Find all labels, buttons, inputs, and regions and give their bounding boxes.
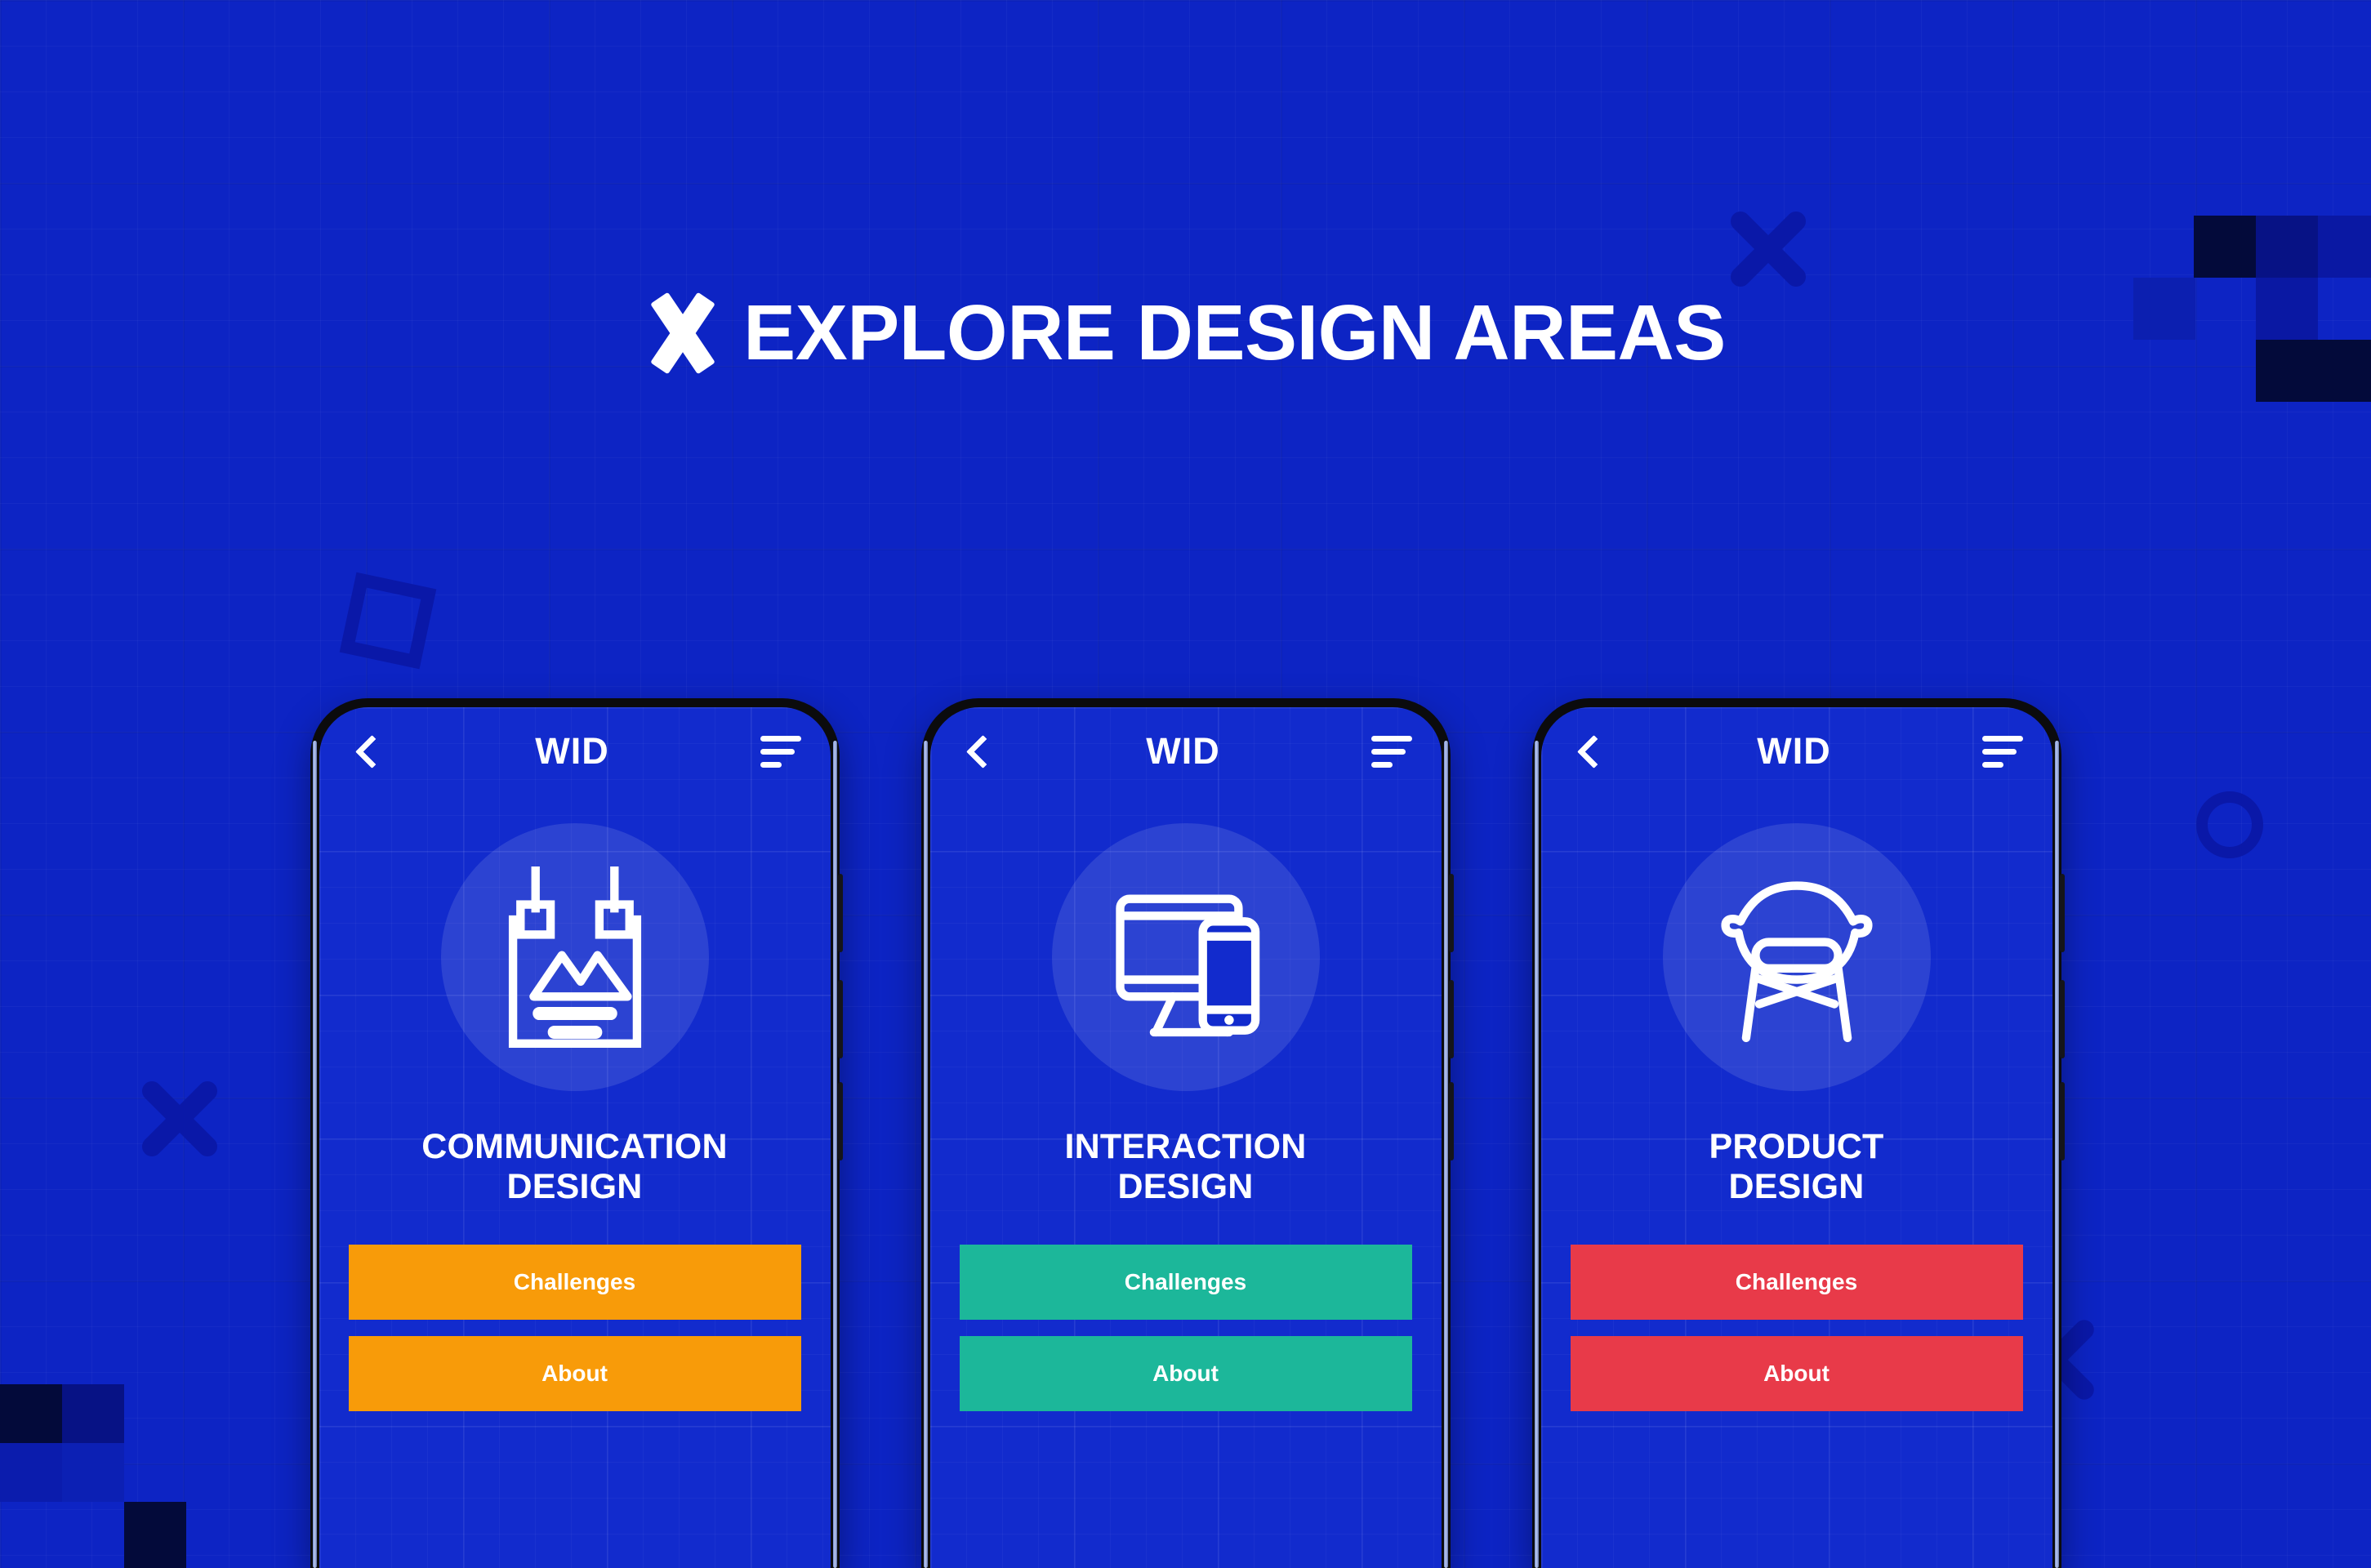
phone-screen: WID PRODUCT DESIGN Challenges About xyxy=(1541,707,2052,1568)
challenges-button[interactable]: Challenges xyxy=(349,1245,801,1320)
about-button[interactable]: About xyxy=(1571,1336,2023,1411)
hamburger-menu-icon[interactable] xyxy=(760,733,803,770)
monitor-and-phone-icon xyxy=(1052,823,1320,1091)
hamburger-menu-icon[interactable] xyxy=(1982,733,2025,770)
phone-mockup-interaction: WID INTERACTION DESIGN Challenges xyxy=(921,698,1451,1568)
chevron-left-icon[interactable] xyxy=(347,733,385,770)
phone-screen: WID INTERACTION DESIGN Challenges xyxy=(930,707,1442,1568)
phone-side-button xyxy=(838,1082,843,1160)
phone-mockup-product: WID PRODUCT DESIGN Challenges About xyxy=(1532,698,2061,1568)
deco-square xyxy=(2256,216,2318,278)
deco-square xyxy=(2194,216,2256,278)
phone-side-button xyxy=(838,874,843,952)
phone-screen: WID COMMUNICATION DESIGN Challenges xyxy=(319,707,831,1568)
design-area-card-list: WID COMMUNICATION DESIGN Challenges xyxy=(0,698,2371,1568)
challenges-button[interactable]: Challenges xyxy=(960,1245,1412,1320)
about-button[interactable]: About xyxy=(349,1336,801,1411)
card-title: COMMUNICATION DESIGN xyxy=(350,1127,800,1207)
deco-x-icon xyxy=(1719,200,1817,298)
chevron-left-icon[interactable] xyxy=(1569,733,1607,770)
app-title: WID xyxy=(996,730,1371,773)
challenges-button[interactable]: Challenges xyxy=(1571,1245,2023,1320)
phone-mockup-communication: WID COMMUNICATION DESIGN Challenges xyxy=(310,698,840,1568)
phone-side-button xyxy=(2060,980,2065,1058)
deco-square xyxy=(2318,216,2371,278)
app-title: WID xyxy=(385,730,760,773)
card-actions: Challenges About xyxy=(349,1245,801,1411)
phone-side-button xyxy=(2060,1082,2065,1160)
phone-side-button xyxy=(1449,874,1454,952)
app-bar: WID xyxy=(319,707,831,795)
chair-icon xyxy=(1663,823,1931,1091)
page-title: EXPLORE DESIGN AREAS xyxy=(743,294,1726,372)
phone-side-button xyxy=(1449,980,1454,1058)
deco-square-outline xyxy=(330,563,446,679)
card-actions: Challenges About xyxy=(1571,1245,2023,1411)
app-bar: WID xyxy=(930,707,1442,795)
card-title: INTERACTION DESIGN xyxy=(960,1127,1411,1207)
phone-side-button xyxy=(1449,1082,1454,1160)
page-header: EXPLORE DESIGN AREAS xyxy=(0,294,2371,372)
card-title: PRODUCT DESIGN xyxy=(1571,1127,2021,1207)
hanging-poster-icon xyxy=(441,823,709,1091)
hamburger-menu-icon[interactable] xyxy=(1371,733,1414,770)
phone-side-button xyxy=(2060,874,2065,952)
about-button[interactable]: About xyxy=(960,1336,1412,1411)
app-title: WID xyxy=(1607,730,1982,773)
phone-side-button xyxy=(838,980,843,1058)
x-mark-icon xyxy=(645,296,720,371)
chevron-left-icon[interactable] xyxy=(958,733,996,770)
app-bar: WID xyxy=(1541,707,2052,795)
card-actions: Challenges About xyxy=(960,1245,1412,1411)
